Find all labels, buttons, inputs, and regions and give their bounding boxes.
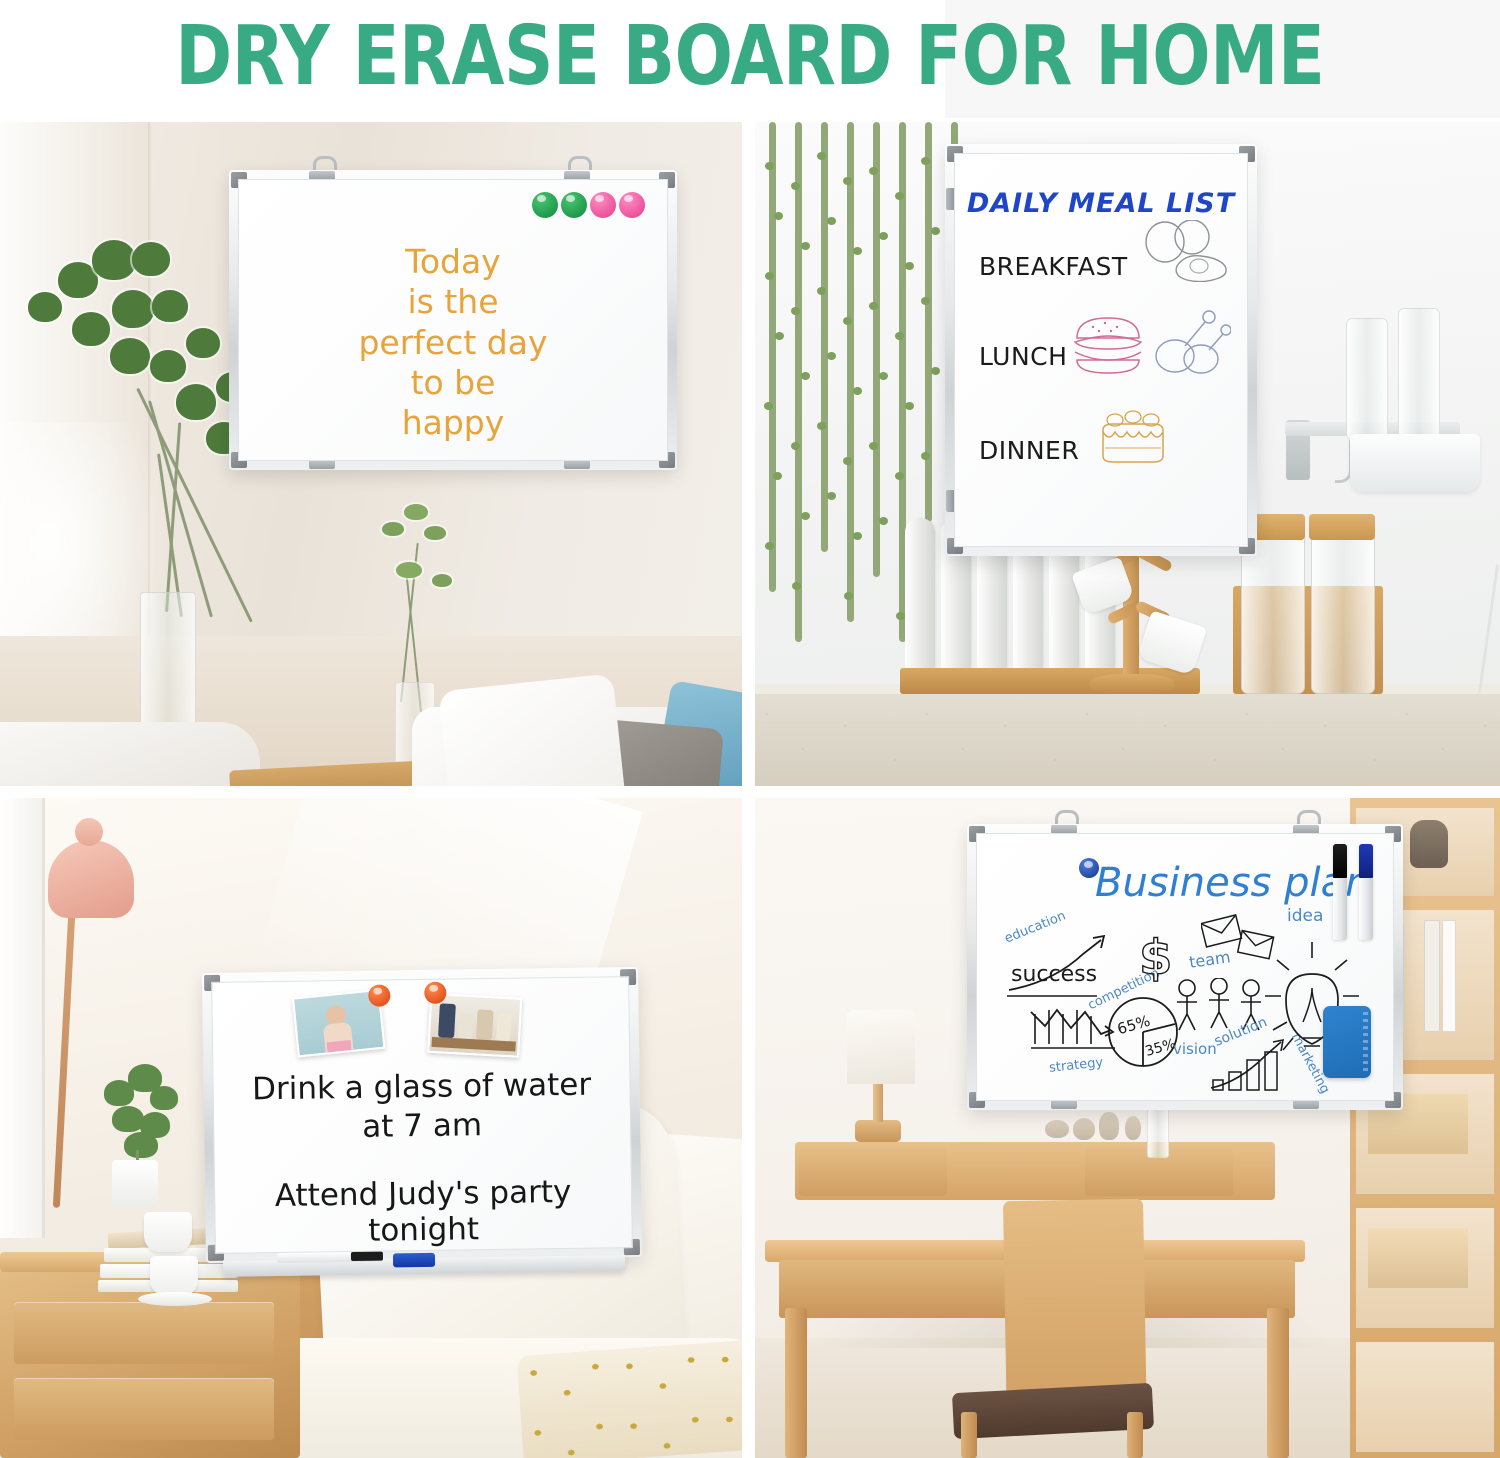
board-note-line-2: Attend Judy's party tonight [215,1173,632,1251]
meal-list-title: DAILY MEAL LIST [955,188,1247,219]
board-note-living-room: Today is the perfect day to be happy [239,242,667,443]
glass-cup [1147,1108,1169,1158]
pebble-2 [1073,1118,1095,1140]
svg-text:$: $ [1139,932,1172,984]
whiteboard-eraser[interactable] [1323,1006,1371,1078]
note-line-3: perfect day [239,323,667,363]
marker-black[interactable] [1333,844,1347,940]
whiteboard-bedroom[interactable]: Drink a glass of water at 7 am Attend Ju… [202,967,642,1263]
whiteboard-surface[interactable]: Business plan success education competit… [976,833,1394,1101]
blue-eraser[interactable] [393,1253,435,1268]
whiteboard-surface[interactable]: Today is the perfect day to be happy [238,179,668,461]
whiteboard-surface[interactable]: Drink a glass of water at 7 am Attend Ju… [211,976,633,1254]
desk-leg-left [785,1308,807,1458]
panel-living-room: Today is the perfect day to be happy [0,122,742,786]
meal-row-breakfast-label: BREAKFAST [979,252,1128,281]
note-line-2: is the [239,282,667,322]
magnet-pink-2[interactable] [619,192,645,218]
note-text-1: Drink a glass of water at 7 am [213,1065,630,1148]
product-image: DRY ERASE BOARD FOR HOME [0,0,1500,1458]
white-cushion [438,673,630,786]
burger-icon [1069,312,1147,378]
magnet-green-2[interactable] [561,192,587,218]
glass-bottle-1 [1346,318,1388,440]
pie-chart-icon [1105,994,1183,1072]
lamp-shade [48,840,134,918]
doodle-label-success: success [1011,962,1097,987]
whiteboard-kitchen[interactable]: DAILY MEAL LIST BREAKFAST LUNCH [945,144,1257,556]
pebble-4 [1125,1116,1141,1140]
meal-row-dinner-label: DINNER [979,436,1079,465]
dollar-sign-icon: $ [1137,932,1181,984]
armchair [0,722,260,786]
power-cord [1478,564,1499,693]
header-banner: DRY ERASE BOARD FOR HOME [0,0,1500,118]
drumsticks-icon [1151,304,1231,380]
saucer [138,1292,212,1306]
cup-back [144,1212,192,1252]
magnet-pink-1[interactable] [590,192,616,218]
whiteboard-office[interactable]: Business plan success education competit… [967,824,1403,1110]
plant-pot [112,1160,158,1208]
panel-bedroom: Drink a glass of water at 7 am Attend Ju… [0,798,742,1458]
pebble-1 [1045,1120,1069,1138]
desk-lamp-shade [847,1010,915,1084]
note-line-1: Today [239,242,667,282]
patterned-throw [516,1340,742,1458]
meal-row-lunch-label: LUNCH [979,342,1067,371]
panel-grid: Today is the perfect day to be happy [0,122,1500,1458]
hutch-drawer-left [799,1148,947,1196]
pebble-3 [1099,1112,1119,1140]
marker-cap-black [351,1252,383,1261]
cup-front [150,1256,198,1296]
panel-kitchen: DAILY MEAL LIST BREAKFAST LUNCH [755,122,1500,786]
desk-lamp-pole [873,1078,883,1122]
page-title: DRY ERASE BOARD FOR HOME [175,16,1324,98]
photo-family[interactable] [427,993,522,1058]
doodle-label-idea: idea [1287,906,1323,926]
desk-leg-right [1267,1308,1289,1458]
bottom-plate-right [564,460,590,469]
bottom-plate-left [309,460,335,469]
note-line-4: to be [239,363,667,403]
cake-icon [1095,402,1171,468]
magnet-green-1[interactable] [532,192,558,218]
glass-bottle-2 [1398,308,1440,442]
whiteboard-surface[interactable]: DAILY MEAL LIST BREAKFAST LUNCH [954,153,1248,547]
note-line-5: happy [239,403,667,443]
panel-home-office: ROCKY [755,798,1500,1458]
eggs-icon [1137,220,1233,282]
bottom-plate-left [1051,1100,1077,1109]
marker-blue[interactable] [1359,844,1373,940]
bottom-plate-right [1293,1100,1319,1109]
window [0,798,45,1238]
magnet-orange-1[interactable] [368,984,390,1006]
chair-leg-left [961,1412,977,1458]
desk-lamp-base [855,1120,901,1142]
lamp-top [75,818,103,846]
board-title-business-plan: Business plan [1095,860,1370,906]
counter [755,694,1500,786]
whiteboard-living-room[interactable]: Today is the perfect day to be happy [229,170,677,470]
chair-leg-right [1127,1412,1143,1458]
board-note-line-1: Drink a glass of water at 7 am [213,1065,630,1148]
